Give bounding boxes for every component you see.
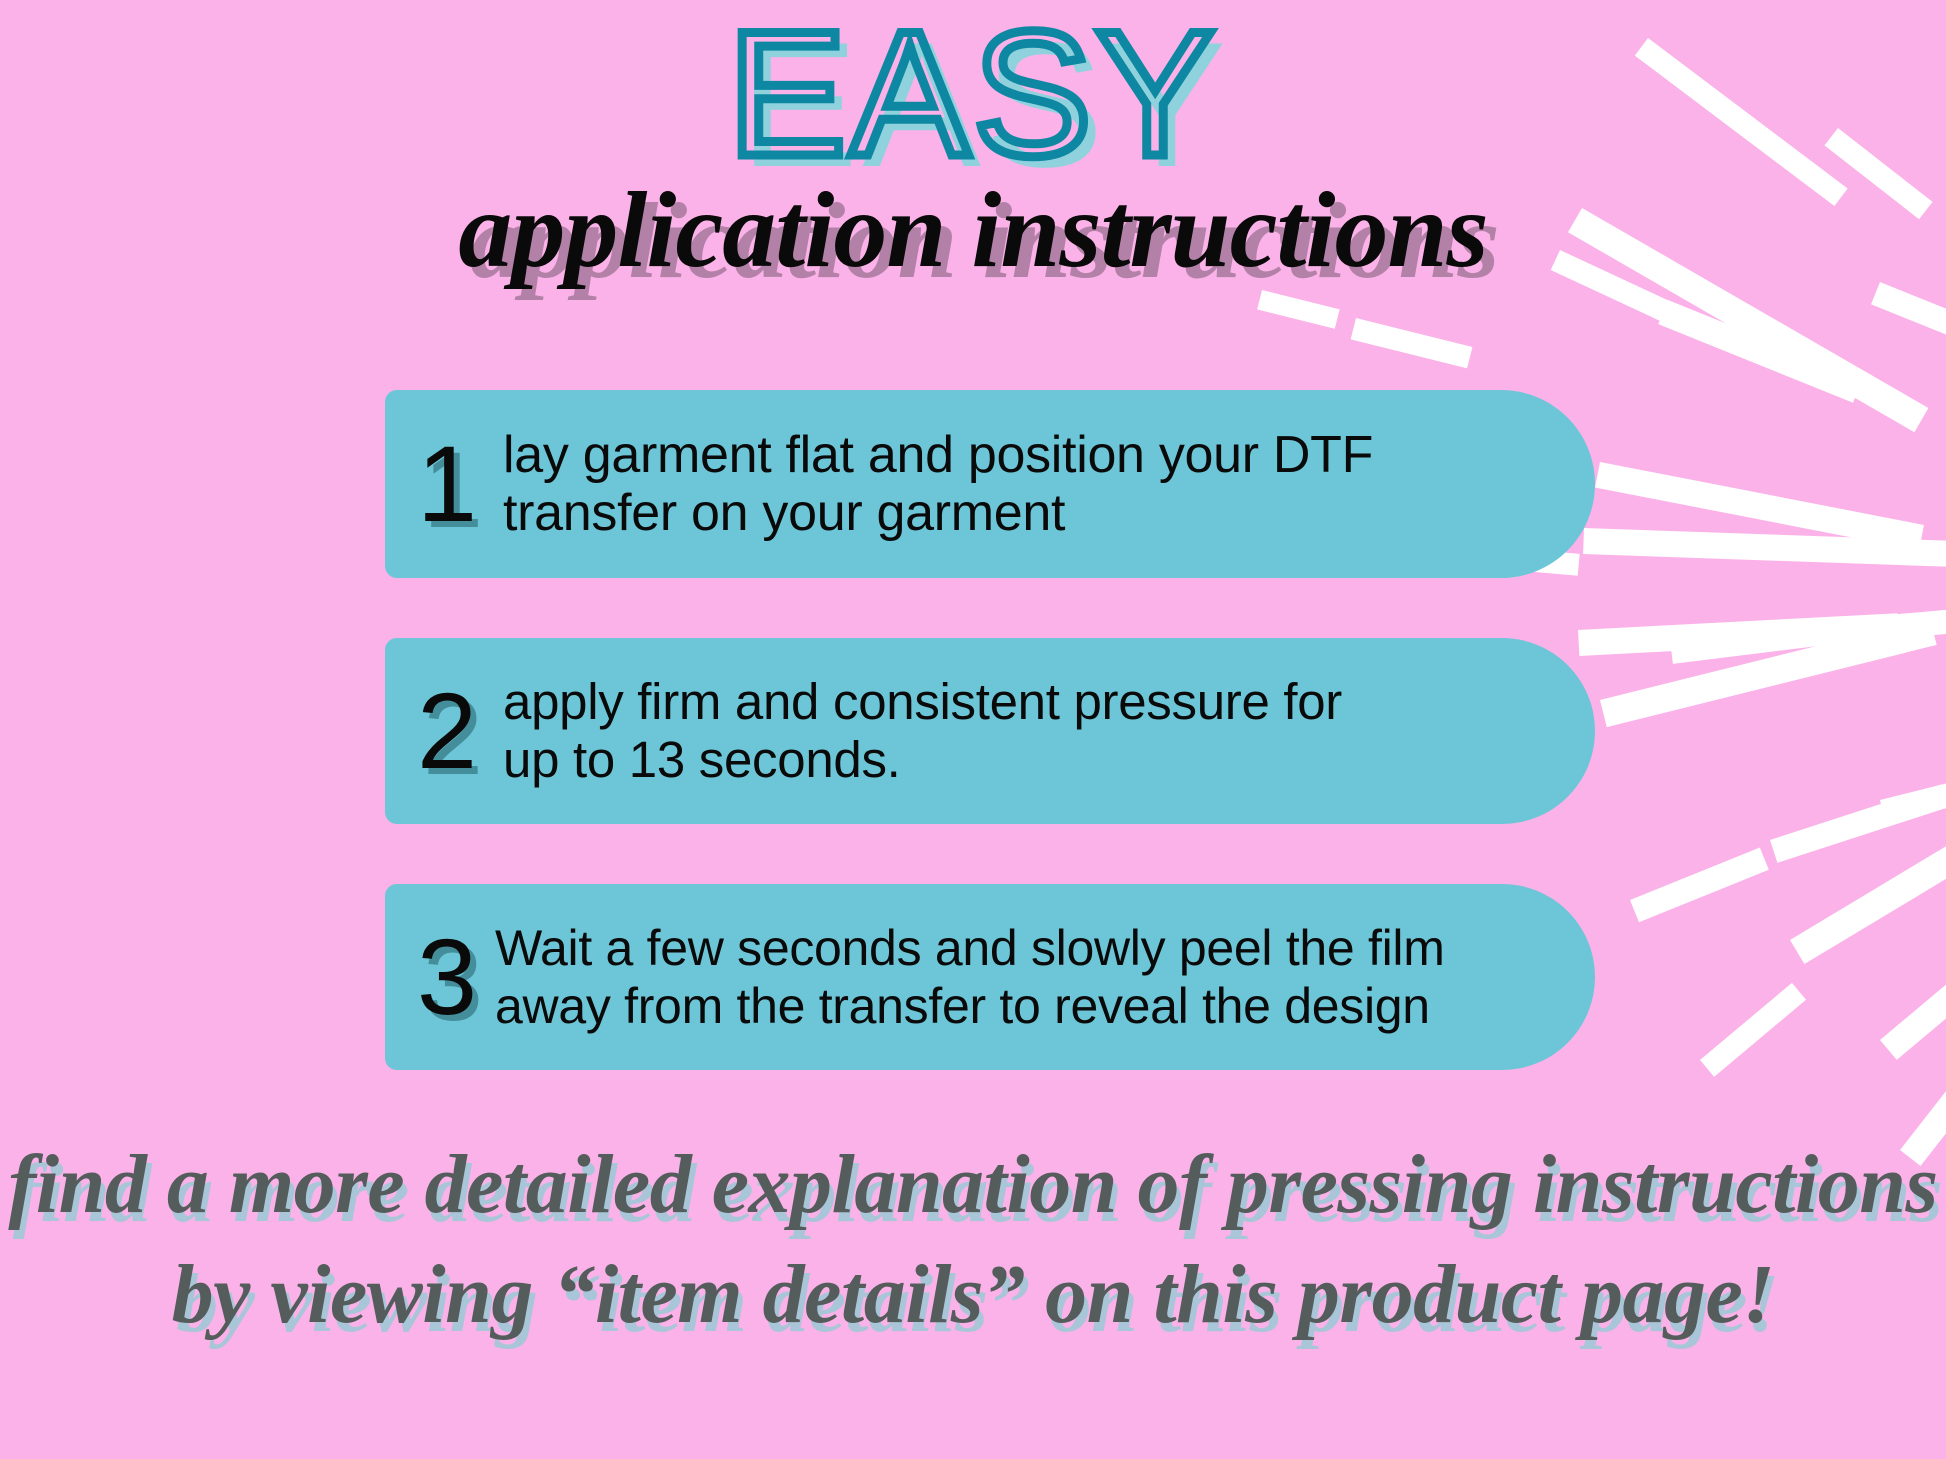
footer-note: find a more detailed explanation of pres… [0, 1130, 1946, 1350]
step-text-3-line-2: away from the transfer to reveal the des… [495, 977, 1475, 1035]
footer-line-2: by viewing “item details” on this produc… [0, 1240, 1946, 1350]
headline-easy: EASY EASY [728, 8, 1219, 180]
step-text-1-line-2: transfer on your garment [503, 484, 1475, 542]
step-text-2-line-1: apply firm and consistent pressure for [503, 673, 1475, 731]
steps-list: 1 lay garment flat and position your DTF… [385, 390, 1595, 1130]
step-text-3: Wait a few seconds and slowly peel the f… [495, 919, 1475, 1035]
footer-line-2-face: by viewing “item details” on this produc… [172, 1248, 1775, 1341]
step-number-1: 1 [417, 432, 503, 536]
step-text-2-line-2: up to 13 seconds. [503, 731, 1475, 789]
subheadline-face-layer: application instructions [458, 171, 1487, 290]
poster-canvas: EASY EASY application instructions appli… [0, 0, 1946, 1459]
step-card-3: 3 Wait a few seconds and slowly peel the… [385, 884, 1595, 1070]
step-number-2: 2 [417, 679, 503, 783]
step-number-3: 3 [417, 925, 495, 1029]
headline-face-layer: EASY [728, 0, 1219, 193]
step-text-1-line-1: lay garment flat and position your DTF [503, 426, 1475, 484]
subheadline-application-instructions: application instructions application ins… [458, 168, 1487, 294]
footer-line-1-face: find a more detailed explanation of pres… [8, 1138, 1937, 1231]
headline-container: EASY EASY [0, 8, 1946, 183]
step-text-3-line-1: Wait a few seconds and slowly peel the f… [495, 919, 1475, 977]
step-card-1: 1 lay garment flat and position your DTF… [385, 390, 1595, 578]
step-text-1: lay garment flat and position your DTF t… [503, 426, 1475, 542]
subheadline-container: application instructions application ins… [0, 168, 1946, 298]
step-text-2: apply firm and consistent pressure for u… [503, 673, 1475, 789]
step-card-2: 2 apply firm and consistent pressure for… [385, 638, 1595, 824]
footer-line-1: find a more detailed explanation of pres… [0, 1130, 1946, 1240]
